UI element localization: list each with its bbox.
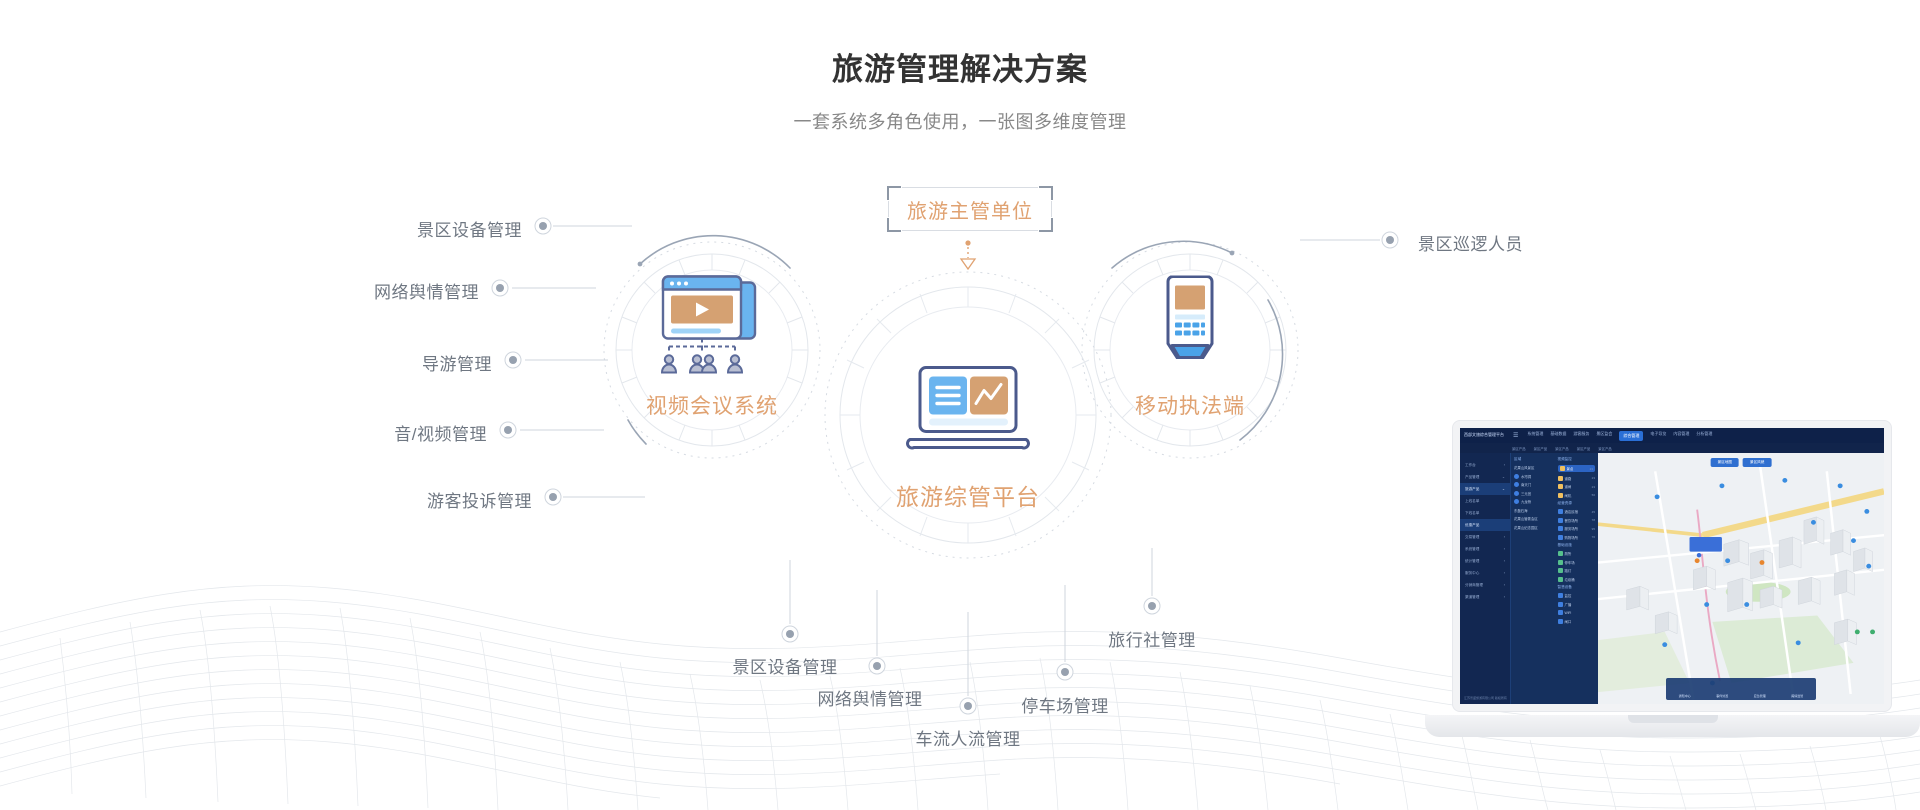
sidebar-item-9[interactable]: 服务中心› xyxy=(1460,567,1510,579)
laptop-mockup: 西部文旅综合管理平台 ☰ 系统管理 基础数据 游客服务 景区监会 综合管理 电子… xyxy=(1425,415,1920,765)
layer-icon-3-0 xyxy=(1558,593,1563,598)
map-view-button-0[interactable]: 景区地图 xyxy=(1711,458,1739,467)
map-view-switcher[interactable]: 景区地图 景区风貌 xyxy=(1711,458,1772,467)
layer-label-0-0: 景点 xyxy=(1567,466,1574,471)
top-menu-item-6[interactable]: 内容管理 xyxy=(1673,431,1689,441)
sidebar-item-4[interactable]: 下线名单 xyxy=(1460,507,1510,519)
sidebar-item-8[interactable]: 统计管理› xyxy=(1460,555,1510,567)
tree-item-3[interactable]: 三元宫 xyxy=(1514,491,1552,496)
left-label-1[interactable]: 网络舆情管理 xyxy=(374,278,479,303)
tree-item-4[interactable]: 九龙桥 xyxy=(1514,499,1552,504)
layer-item-2-0[interactable]: 厕所 xyxy=(1558,551,1596,556)
layer-label-0-3: 闸机 xyxy=(1565,493,1572,498)
laptop-dashboard-icon xyxy=(898,360,1038,465)
layer-item-2-3[interactable]: 垃圾桶 xyxy=(1558,577,1596,582)
map-dock-item-2[interactable]: 应急管理 xyxy=(1754,694,1766,698)
left-connectors xyxy=(512,226,645,497)
layer-icon-1-0 xyxy=(1558,509,1563,514)
box-edge-left xyxy=(888,201,889,217)
layer-item-1-1[interactable]: 餐饮场所78 xyxy=(1558,518,1596,523)
chevron-down-icon-2: ⌄ xyxy=(1502,487,1505,492)
layer-icon-2-3 xyxy=(1558,577,1563,582)
layer-group-title-0: 视频监控 xyxy=(1558,457,1596,462)
layer-icon-2-1 xyxy=(1558,560,1563,565)
hub-title-mobile-enforcement: 移动执法端 xyxy=(1135,390,1245,420)
chevron-right-icon-6: › xyxy=(1504,535,1505,540)
map-canvas[interactable]: 景区地图 景区风貌 通知中心 事件处置 应急管理 舆情监管 xyxy=(1598,453,1884,704)
layer-item-2-1[interactable]: 停车场 xyxy=(1558,560,1596,565)
dashboard-preview: 西部文旅综合管理平台 ☰ 系统管理 基础数据 游客服务 景区监会 综合管理 电子… xyxy=(1460,428,1884,704)
layer-count-0-2: 23 xyxy=(1592,485,1595,489)
sidebar-label-4: 下线名单 xyxy=(1465,511,1479,516)
layer-item-1-2[interactable]: 服务场所95 xyxy=(1558,526,1596,531)
layer-icon-0-1 xyxy=(1558,476,1563,481)
layer-label-1-3: 购物场所 xyxy=(1565,535,1579,540)
bottom-label-2[interactable]: 车流人流管理 xyxy=(916,725,1021,750)
tree-label-4: 九龙桥 xyxy=(1521,499,1531,504)
top-menu-item-2[interactable]: 游客服务 xyxy=(1573,431,1589,441)
left-connector-dots xyxy=(492,218,561,505)
sidebar-item-7[interactable]: 系统管理› xyxy=(1460,543,1510,555)
map-dock-item-0[interactable]: 通知中心 xyxy=(1679,694,1691,698)
right-connector-dots xyxy=(1382,232,1398,248)
tree-label-5: 东磊石海 xyxy=(1514,508,1528,513)
layer-item-3-2[interactable]: WiFi xyxy=(1558,610,1596,615)
bullet-icon-1 xyxy=(1514,474,1519,479)
bottom-label-4[interactable]: 旅行社管理 xyxy=(1108,626,1196,651)
tab-0[interactable]: 景区产品 xyxy=(1512,446,1526,451)
layer-icon-1-1 xyxy=(1558,518,1563,523)
sidebar-label-0: 工作台 xyxy=(1465,463,1476,468)
dashboard-footer-note: 江苏景盛旅游有限公司 版权所有 xyxy=(1464,696,1507,700)
layer-group-title-3: 智慧设备 xyxy=(1558,585,1596,590)
layer-count-1-2: 95 xyxy=(1592,527,1595,531)
layer-count-0-1: 23 xyxy=(1592,476,1595,480)
top-menu-item-1[interactable]: 基础数据 xyxy=(1550,431,1566,441)
chevron-down-icon-1: ⌄ xyxy=(1502,475,1505,480)
sidebar-item-10[interactable]: 分销商管理› xyxy=(1460,579,1510,591)
authority-connector xyxy=(961,240,975,269)
layer-count-0-0: 23 xyxy=(1590,467,1593,471)
layer-label-2-0: 厕所 xyxy=(1565,551,1572,556)
layer-item-2-2[interactable]: 路灯 xyxy=(1558,568,1596,573)
sidebar-label-8: 统计管理 xyxy=(1465,559,1479,564)
layer-icon-1-2 xyxy=(1558,526,1563,531)
layer-item-0-2[interactable]: 道闸23 xyxy=(1558,484,1596,489)
left-label-3[interactable]: 音/视频管理 xyxy=(394,420,487,445)
dashboard-layer-panel: 区域 花果山风景区 水帘洞 南天门 三元宫 九龙桥 东磊石海 花果山管委会区 花… xyxy=(1510,453,1598,704)
layer-label-1-1: 餐饮场所 xyxy=(1565,518,1579,523)
layer-icon-3-1 xyxy=(1558,602,1563,607)
dashboard-body: 工作台› 产品管理⌄ 旅游产品⌄ 上线名单 下线名单 优惠产品 交易管理› 系统… xyxy=(1460,453,1884,704)
tab-3[interactable]: 景区产品 xyxy=(1577,446,1591,451)
sidebar-item-0[interactable]: 工作台› xyxy=(1460,459,1510,471)
chevron-right-icon-9: › xyxy=(1504,571,1505,576)
laptop-notch xyxy=(1628,715,1718,723)
right-label-0[interactable]: 景区巡逻人员 xyxy=(1418,230,1523,255)
chevron-right-icon-10: › xyxy=(1504,583,1505,588)
tree-item-5[interactable]: 东磊石海 xyxy=(1514,508,1552,513)
bottom-label-3[interactable]: 停车场管理 xyxy=(1021,692,1109,717)
top-menu-item-3[interactable]: 景区监会 xyxy=(1596,431,1612,441)
sidebar-item-5[interactable]: 优惠产品 xyxy=(1460,519,1510,531)
chevron-right-icon-0: › xyxy=(1504,463,1505,468)
corner-top-right xyxy=(1039,186,1053,200)
left-label-2[interactable]: 导游管理 xyxy=(422,350,492,375)
left-label-4[interactable]: 游客投诉管理 xyxy=(427,487,532,512)
layer-icon-1-3 xyxy=(1558,535,1563,540)
map-dock-toolbar[interactable]: 通知中心 事件处置 应急管理 舆情监管 xyxy=(1666,678,1816,700)
sidebar-label-11: 渠道管理 xyxy=(1465,595,1479,600)
tab-1[interactable]: 景区产品 xyxy=(1534,446,1548,451)
bullet-icon-3 xyxy=(1514,491,1519,496)
layer-icon-0-2 xyxy=(1558,484,1563,489)
top-menu-item-0[interactable]: 系统管理 xyxy=(1527,431,1543,441)
tree-label-3: 三元宫 xyxy=(1521,491,1531,496)
layer-item-3-3[interactable]: 闸口 xyxy=(1558,619,1596,624)
layer-label-0-1: 道路 xyxy=(1565,476,1572,481)
top-menu-item-7[interactable]: 分析管理 xyxy=(1696,431,1712,441)
layer-label-1-2: 服务场所 xyxy=(1565,526,1579,531)
layer-label-3-2: WiFi xyxy=(1565,611,1572,615)
hub-title-video-conference: 视频会议系统 xyxy=(646,390,778,420)
tree-item-6[interactable]: 花果山管委会区 xyxy=(1514,516,1552,521)
corner-top-left xyxy=(887,186,901,200)
layer-label-2-2: 路灯 xyxy=(1565,568,1572,573)
tree-item-1[interactable]: 水帘洞 xyxy=(1514,474,1552,479)
chevron-right-icon-7: › xyxy=(1504,547,1505,552)
sidebar-item-1[interactable]: 产品管理⌄ xyxy=(1460,471,1510,483)
bottom-connectors xyxy=(790,548,1152,696)
sidebar-label-1: 产品管理 xyxy=(1465,475,1479,480)
left-label-0[interactable]: 景区设备管理 xyxy=(417,216,522,241)
layer-list-column: 视频监控 景点23 道路23 道闸23 闸机56 经营资源 酒店民宿45 餐饮场… xyxy=(1555,453,1599,704)
bullet-icon-2 xyxy=(1514,482,1519,487)
layer-label-3-0: 监控 xyxy=(1565,593,1572,598)
bottom-label-1[interactable]: 网络舆情管理 xyxy=(818,685,923,710)
map-view-button-1[interactable]: 景区风貌 xyxy=(1743,458,1771,467)
tree-item-7[interactable]: 花果山纪念园区 xyxy=(1514,525,1552,530)
sidebar-label-2: 旅游产品 xyxy=(1465,487,1479,492)
tree-label-1: 水帘洞 xyxy=(1521,474,1531,479)
tree-item-2[interactable]: 南天门 xyxy=(1514,482,1552,487)
box-edge-right xyxy=(1051,201,1052,217)
sidebar-label-6: 交易管理 xyxy=(1465,535,1479,540)
layer-item-0-0[interactable]: 景点23 xyxy=(1558,465,1596,472)
hamburger-icon[interactable]: ☰ xyxy=(1513,432,1518,439)
map-graphics xyxy=(1598,453,1884,704)
region-tree-title: 区域 xyxy=(1514,457,1552,462)
sidebar-label-3: 上线名单 xyxy=(1465,499,1479,504)
video-window-icon xyxy=(647,273,777,388)
tree-label-2: 南天门 xyxy=(1521,482,1531,487)
bullet-icon-4 xyxy=(1514,499,1519,504)
layer-item-1-0[interactable]: 酒店民宿45 xyxy=(1558,509,1596,514)
handheld-terminal-icon xyxy=(1150,276,1230,385)
layer-label-0-2: 道闸 xyxy=(1565,484,1572,489)
layer-group-title-1: 经营资源 xyxy=(1558,501,1596,506)
tree-item-0[interactable]: 花果山风景区 xyxy=(1514,465,1552,470)
sidebar-item-6[interactable]: 交易管理› xyxy=(1460,531,1510,543)
layer-item-1-3[interactable]: 购物场所76 xyxy=(1558,535,1596,540)
dashboard-topbar: 西部文旅综合管理平台 ☰ 系统管理 基础数据 游客服务 景区监会 综合管理 电子… xyxy=(1460,428,1884,443)
sidebar-item-11[interactable]: 渠道管理› xyxy=(1460,591,1510,603)
dashboard-logo: 西部文旅综合管理平台 xyxy=(1464,433,1510,437)
dashboard-tabbar: 景区产品 景区产品 景区产品 景区产品 景区产品 xyxy=(1460,443,1884,453)
layer-label-1-0: 酒店民宿 xyxy=(1565,509,1579,514)
layer-icon-3-2 xyxy=(1558,610,1563,615)
top-menu-item-4[interactable]: 综合管理 xyxy=(1619,431,1643,441)
authority-unit-label: 旅游主管单位 xyxy=(907,195,1033,224)
hub-title-tourism-platform: 旅游综管平台 xyxy=(896,478,1040,512)
layer-label-3-1: 广播 xyxy=(1565,602,1572,607)
bottom-label-0[interactable]: 景区设备管理 xyxy=(733,653,838,678)
map-dock-item-3[interactable]: 舆情监管 xyxy=(1791,694,1803,698)
layer-label-2-3: 垃圾桶 xyxy=(1565,577,1575,582)
authority-unit-box[interactable]: 旅游主管单位 xyxy=(888,187,1052,231)
region-tree-column: 区域 花果山风景区 水帘洞 南天门 三元宫 九龙桥 东磊石海 花果山管委会区 花… xyxy=(1511,453,1555,704)
layer-count-1-3: 76 xyxy=(1592,535,1595,539)
tab-2[interactable]: 景区产品 xyxy=(1555,446,1569,451)
layer-label-2-1: 停车场 xyxy=(1565,560,1575,565)
tree-label-7: 花果山纪念园区 xyxy=(1514,525,1538,530)
layer-count-0-3: 56 xyxy=(1592,493,1595,497)
layer-icon-0-0 xyxy=(1560,466,1565,471)
box-edge-bottom xyxy=(902,230,1038,231)
layer-item-3-1[interactable]: 广播 xyxy=(1558,602,1596,607)
top-menu-item-5[interactable]: 电子导览 xyxy=(1650,431,1666,441)
dashboard-top-menu: 系统管理 基础数据 游客服务 景区监会 综合管理 电子导览 内容管理 分析管理 xyxy=(1527,431,1712,441)
layer-item-0-3[interactable]: 闸机56 xyxy=(1558,493,1596,498)
layer-item-0-1[interactable]: 道路23 xyxy=(1558,476,1596,481)
chevron-right-icon-8: › xyxy=(1504,559,1505,564)
sidebar-item-3[interactable]: 上线名单 xyxy=(1460,495,1510,507)
tree-label-6: 花果山管委会区 xyxy=(1514,516,1538,521)
layer-label-3-3: 闸口 xyxy=(1565,619,1572,624)
corner-bottom-right xyxy=(1039,218,1053,232)
box-edge-top xyxy=(902,187,1038,188)
sidebar-label-10: 分销商管理 xyxy=(1465,583,1483,588)
layer-count-1-1: 78 xyxy=(1592,518,1595,522)
layer-count-1-0: 45 xyxy=(1592,510,1595,514)
tab-4[interactable]: 景区产品 xyxy=(1598,446,1612,451)
tourism-solution-infographic: 旅游管理解决方案 一套系统多角色使用，一张图多维度管理 xyxy=(0,0,1920,810)
laptop-screen: 西部文旅综合管理平台 ☰ 系统管理 基础数据 游客服务 景区监会 综合管理 电子… xyxy=(1453,421,1891,711)
chevron-right-icon-11: › xyxy=(1504,595,1505,600)
sidebar-item-2[interactable]: 旅游产品⌄ xyxy=(1460,483,1510,495)
layer-icon-2-0 xyxy=(1558,551,1563,556)
tree-label-0: 花果山风景区 xyxy=(1514,465,1534,470)
sidebar-label-7: 系统管理 xyxy=(1465,547,1479,552)
sidebar-label-5: 优惠产品 xyxy=(1465,523,1479,528)
dashboard-sidebar: 工作台› 产品管理⌄ 旅游产品⌄ 上线名单 下线名单 优惠产品 交易管理› 系统… xyxy=(1460,453,1510,704)
layer-icon-0-3 xyxy=(1558,493,1563,498)
layer-icon-2-2 xyxy=(1558,568,1563,573)
layer-group-title-2: 基础设施 xyxy=(1558,543,1596,548)
corner-bottom-left xyxy=(887,218,901,232)
sidebar-label-9: 服务中心 xyxy=(1465,571,1479,576)
layer-icon-3-3 xyxy=(1558,619,1563,624)
layer-item-3-0[interactable]: 监控 xyxy=(1558,593,1596,598)
map-dock-item-1[interactable]: 事件处置 xyxy=(1716,694,1728,698)
